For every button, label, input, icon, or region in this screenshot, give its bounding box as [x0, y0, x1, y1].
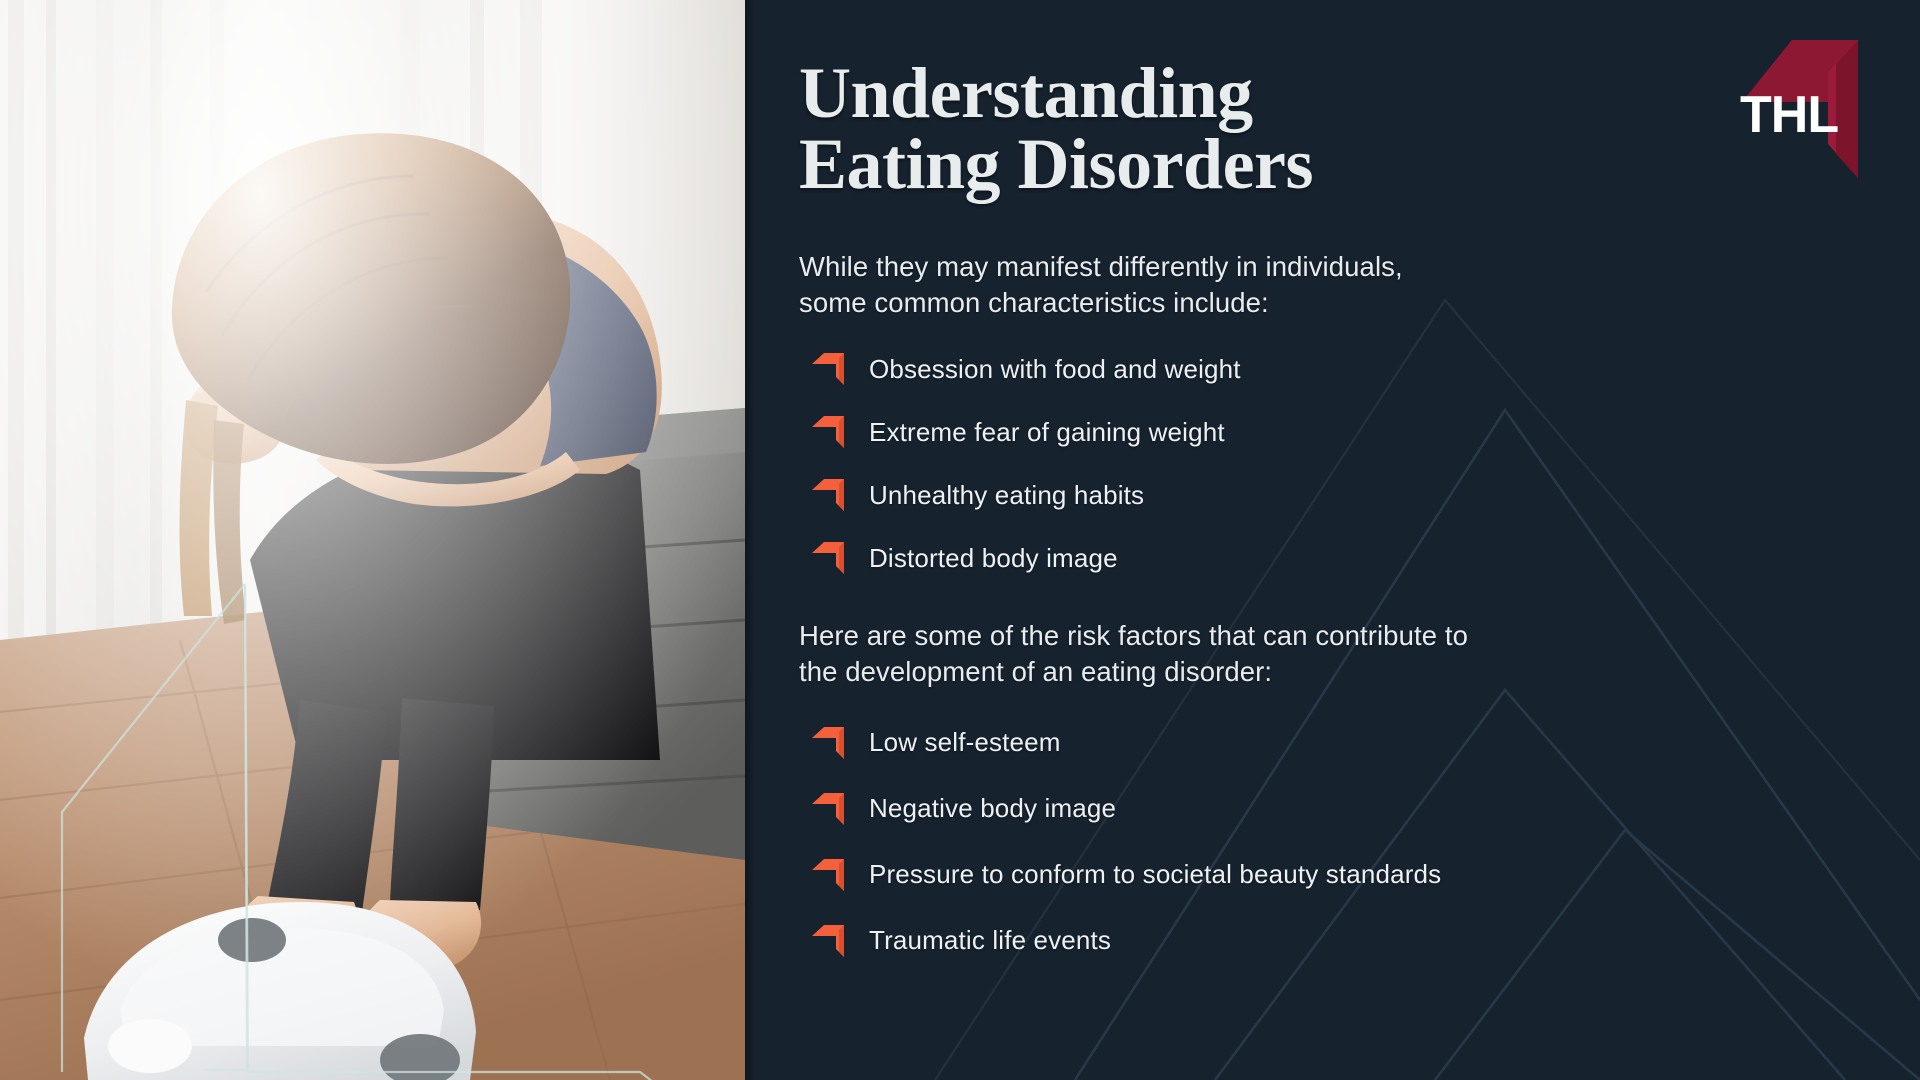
intro-1-line-1: While they may manifest differently in i…: [799, 249, 1850, 285]
infographic-root: THL Understanding Eating Disorders While…: [0, 0, 1920, 1080]
intro-paragraph-2: Here are some of the risk factors that c…: [799, 618, 1850, 691]
chevron-bullet-icon: [811, 924, 845, 958]
thl-logo[interactable]: THL: [1736, 28, 1864, 180]
list-item-label: Obsession with food and weight: [869, 354, 1241, 385]
list-item: Obsession with food and weight: [799, 347, 1850, 391]
list-item-label: Pressure to conform to societal beauty s…: [869, 859, 1441, 890]
page-title: Understanding Eating Disorders: [799, 58, 1639, 201]
list-item: Negative body image: [799, 787, 1850, 831]
list-item-label: Low self-esteem: [869, 727, 1061, 758]
intro-paragraph-1: While they may manifest differently in i…: [799, 249, 1850, 322]
intro-1-line-2: some common characteristics include:: [799, 285, 1850, 321]
content-panel: THL Understanding Eating Disorders While…: [745, 0, 1920, 1080]
list-item-label: Traumatic life events: [869, 925, 1111, 956]
chevron-bullet-icon: [811, 541, 845, 575]
list-item-label: Negative body image: [869, 793, 1116, 824]
chevron-bullet-icon: [811, 726, 845, 760]
chevron-bullet-icon: [811, 352, 845, 386]
list-item: Low self-esteem: [799, 721, 1850, 765]
list-item-label: Distorted body image: [869, 543, 1118, 574]
thl-logo-icon: THL: [1736, 28, 1864, 180]
list-item: Distorted body image: [799, 536, 1850, 580]
list-item-label: Extreme fear of gaining weight: [869, 417, 1225, 448]
intro-2-line-1: Here are some of the risk factors that c…: [799, 618, 1850, 654]
list-item-label: Unhealthy eating habits: [869, 480, 1144, 511]
risk-factors-list: Low self-esteem Negative body image Pres…: [799, 721, 1850, 963]
list-item: Traumatic life events: [799, 919, 1850, 963]
chevron-bullet-icon: [811, 415, 845, 449]
svg-text:THL: THL: [1740, 86, 1838, 144]
chevron-bullet-icon: [811, 792, 845, 826]
chevron-bullet-icon: [811, 478, 845, 512]
characteristics-list: Obsession with food and weight Extreme f…: [799, 347, 1850, 580]
list-item: Extreme fear of gaining weight: [799, 410, 1850, 454]
page-title-line-2: Eating Disorders: [799, 129, 1639, 200]
hero-photo: [0, 0, 745, 1080]
page-title-line-1: Understanding: [799, 58, 1639, 129]
intro-2-line-2: the development of an eating disorder:: [799, 654, 1850, 690]
list-item: Pressure to conform to societal beauty s…: [799, 853, 1850, 897]
chevron-bullet-icon: [811, 858, 845, 892]
list-item: Unhealthy eating habits: [799, 473, 1850, 517]
photo-panel: [0, 0, 745, 1080]
